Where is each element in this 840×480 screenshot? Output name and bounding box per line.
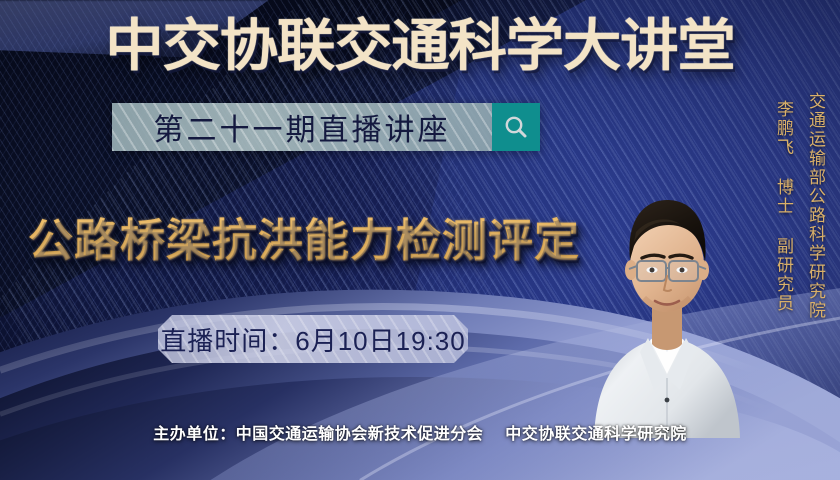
speaker-affiliation: 交通运输部公路科学研究院 — [805, 92, 824, 320]
session-label: 第二十一期直播讲座 — [154, 105, 451, 149]
session-bar-body: 第二十一期直播讲座 — [112, 103, 492, 151]
search-icon — [502, 113, 530, 141]
session-bar: 第二十一期直播讲座 — [112, 103, 540, 151]
lecture-topic: 公路桥梁抗洪能力检测评定 — [28, 204, 580, 269]
live-time-label: 直播时间：6月10日19:30 — [160, 321, 465, 358]
footer-organizer-secondary: 中交协联交通科学研究院 — [505, 426, 687, 443]
live-time-pill: 直播时间：6月10日19:30 — [158, 315, 468, 363]
search-icon-box[interactable] — [492, 103, 540, 151]
webinar-poster: 中交协联交通科学大讲堂 第二十一期直播讲座 公路桥梁抗洪能力检测评定 直播时间：… — [0, 0, 840, 480]
footer-organizers: 主办单位：中国交通运输协会新技术促进分会中交协联交通科学研究院 — [0, 420, 840, 444]
speaker-name-title: 李鹏飞 博士 副研究员 — [773, 100, 792, 313]
footer-organizer-primary: 主办单位：中国交通运输协会新技术促进分会 — [153, 426, 483, 443]
page-title: 中交协联交通科学大讲堂 — [0, 14, 840, 78]
speaker-portrait — [582, 138, 752, 438]
